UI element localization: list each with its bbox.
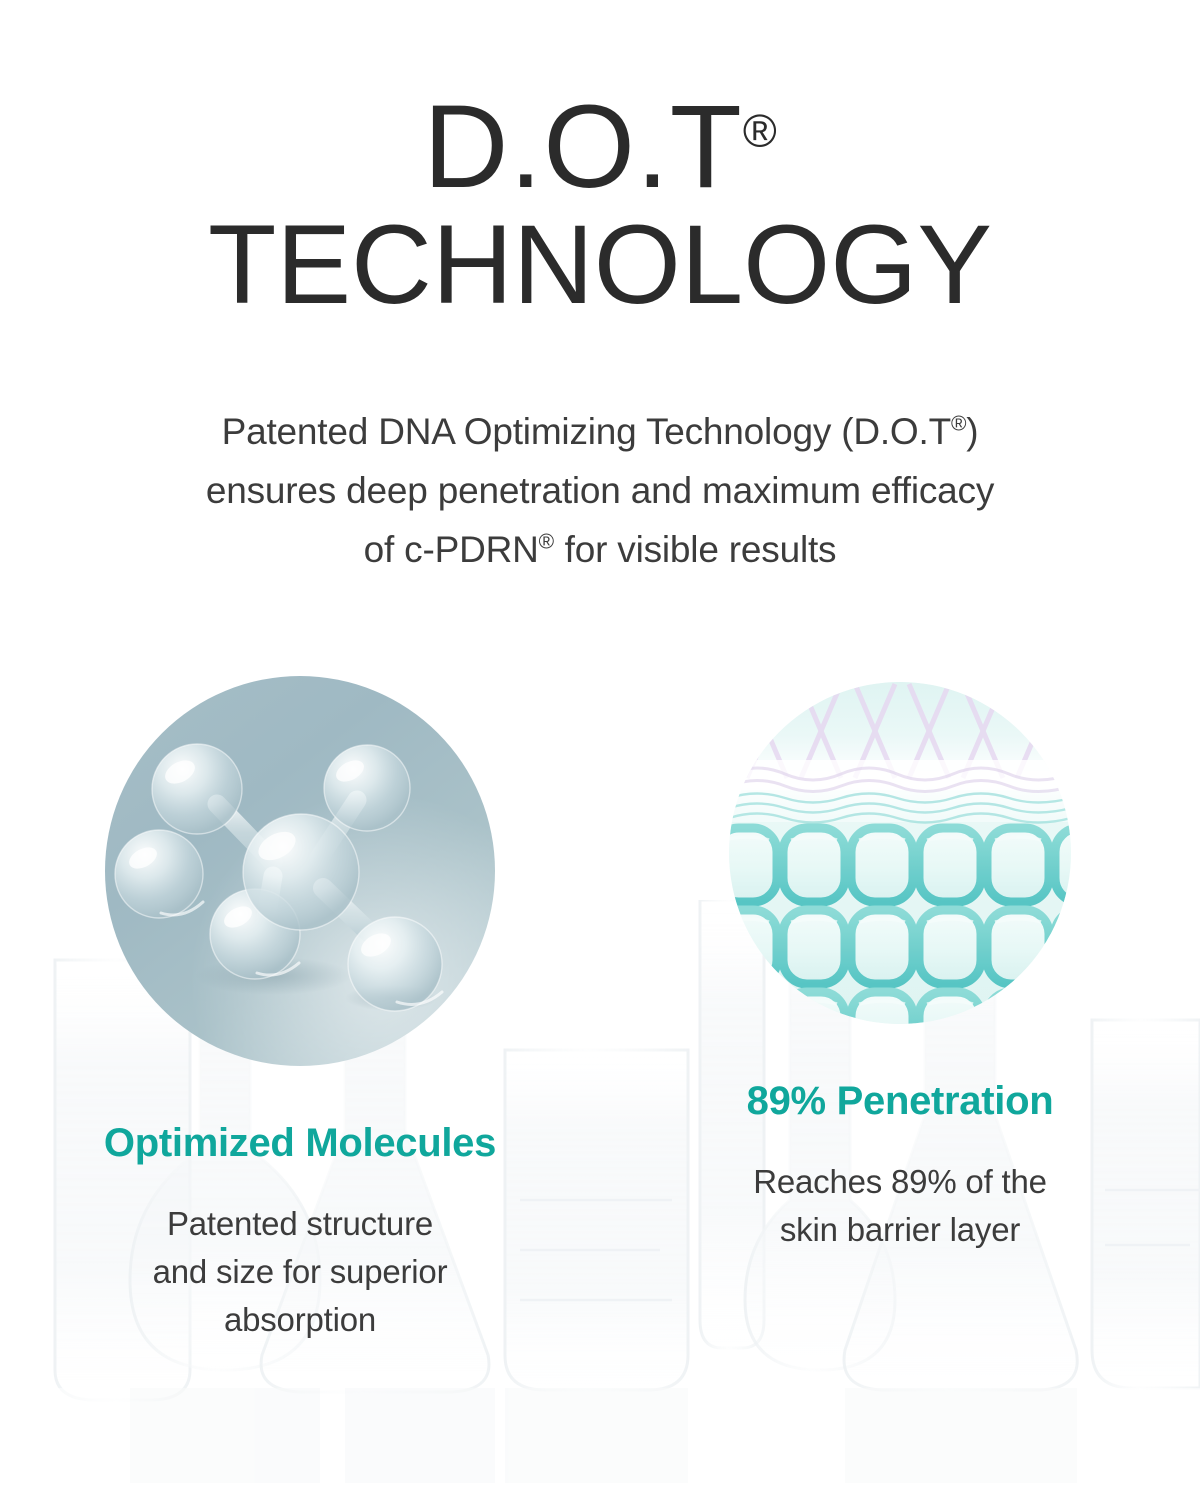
registered-mark-icon: ® bbox=[539, 531, 565, 554]
card-body-optimized-molecules: Patented structure and size for superior… bbox=[153, 1200, 448, 1344]
card-heading-optimized-molecules: Optimized Molecules bbox=[104, 1120, 496, 1166]
feature-card-optimized-molecules: Optimized Molecules Patented structure a… bbox=[0, 676, 600, 1344]
feature-cards: Optimized Molecules Patented structure a… bbox=[0, 676, 1200, 1344]
subtitle-paragraph: Patented DNA Optimizing Technology (D.O.… bbox=[0, 402, 1200, 579]
registered-mark-icon: ® bbox=[743, 105, 777, 157]
card-body-line: absorption bbox=[153, 1296, 448, 1344]
subtitle-line-2: ensures deep penetration and maximum eff… bbox=[0, 461, 1200, 520]
skin-barrier-image-wrap bbox=[729, 676, 1071, 1024]
subtitle-line-1-a: Patented DNA Optimizing Technology (D.O.… bbox=[222, 411, 951, 452]
molecule-image-wrap bbox=[105, 676, 495, 1066]
card-body-line: skin barrier layer bbox=[753, 1206, 1047, 1254]
registered-mark-icon: ® bbox=[951, 413, 966, 436]
feature-card-penetration: 89% Penetration Reaches 89% of the skin … bbox=[600, 676, 1200, 1344]
card-body-line: and size for superior bbox=[153, 1248, 448, 1296]
card-body-line: Patented structure bbox=[153, 1200, 448, 1248]
title-line-technology: TECHNOLOGY bbox=[0, 206, 1200, 324]
skin-barrier-illustration bbox=[729, 682, 1071, 1024]
subtitle-line-1-b: ) bbox=[966, 411, 978, 452]
card-body-line: Reaches 89% of the bbox=[753, 1158, 1047, 1206]
molecule-illustration bbox=[105, 676, 495, 1066]
page-title: D.O.T® TECHNOLOGY bbox=[0, 92, 1200, 324]
title-line-dot: D.O.T® bbox=[0, 92, 1200, 202]
card-heading-penetration: 89% Penetration bbox=[747, 1078, 1054, 1124]
card-body-penetration: Reaches 89% of the skin barrier layer bbox=[753, 1158, 1047, 1254]
title-dot-text: D.O.T bbox=[423, 81, 743, 213]
subtitle-line-3: of c-PDRN®for visible results bbox=[0, 520, 1200, 579]
subtitle-line-1: Patented DNA Optimizing Technology (D.O.… bbox=[0, 402, 1200, 461]
dot-technology-infographic: D.O.T® TECHNOLOGY Patented DNA Optimizin… bbox=[0, 0, 1200, 1500]
subtitle-line-3-b: for visible results bbox=[565, 529, 837, 570]
subtitle-line-3-a: of c-PDRN bbox=[364, 529, 539, 570]
